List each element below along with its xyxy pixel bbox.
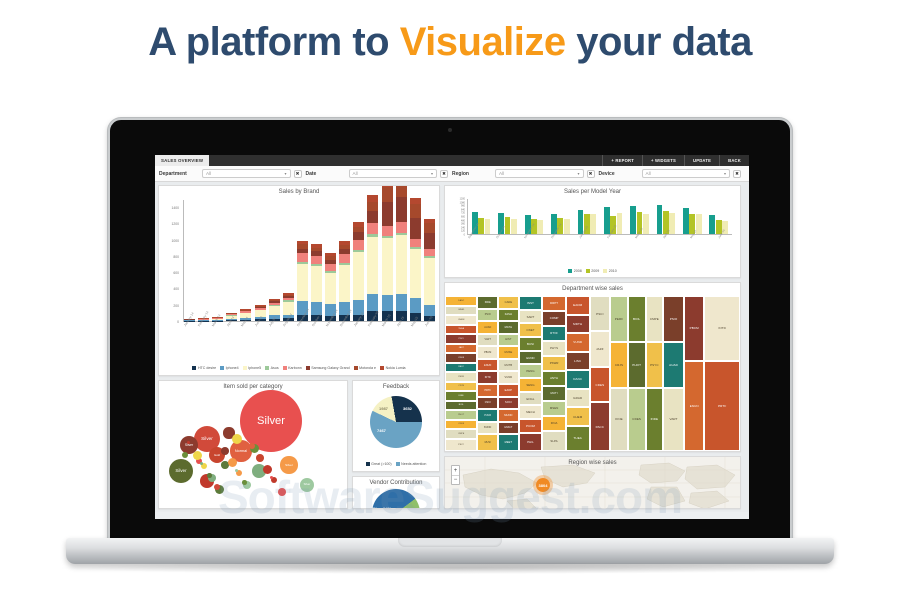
treemap-cell[interactable]: MUSE — [498, 346, 519, 359]
treemap-cell[interactable]: AUAD — [663, 342, 684, 388]
legend-item: Motorola e — [354, 366, 376, 370]
legend-label: Needs attention — [401, 462, 426, 466]
pie-slice-label: 1987 — [379, 406, 388, 411]
update-button[interactable]: UPDATE — [684, 155, 719, 166]
treemap-cell[interactable]: PERF — [610, 296, 628, 342]
bubble[interactable] — [182, 452, 188, 458]
treemap-cell[interactable]: MUND — [498, 409, 519, 422]
dashboard-screen: SALES OVERVIEW + REPORT + WIDGETS UPDATE… — [155, 155, 749, 519]
y-tick-label: 600 — [461, 216, 465, 219]
bar — [485, 219, 491, 234]
legend-item: Nokia Lumia — [380, 366, 405, 370]
treemap-cell[interactable]: PHYS — [542, 341, 566, 356]
filter-region: Region All ▾ ✖ — [452, 169, 599, 178]
pie-slice-label: 6.1% — [383, 507, 391, 508]
legend-swatch — [220, 366, 224, 370]
x-tick-label: November-14 — [325, 325, 329, 328]
pie-area: 3652 7467 1987 — [353, 394, 439, 452]
treemap-cell[interactable]: CSCI — [477, 397, 498, 410]
treemap-cell[interactable]: FINA — [542, 416, 566, 431]
x-tick-wrap: February-14 — [197, 324, 208, 358]
treemap-cell[interactable]: CRJS — [445, 382, 477, 392]
treemap-cell[interactable]: EADP — [498, 384, 519, 397]
bar-segment — [424, 249, 435, 256]
x-tick-label: April-15 — [396, 325, 400, 328]
bar-segment — [297, 253, 308, 262]
treemap-cell[interactable]: PSIO — [477, 309, 498, 322]
pie-slice-label: 4.3% — [369, 507, 377, 508]
treemap-cell[interactable]: PBCM — [477, 346, 498, 359]
widget-title: Region wise sales — [445, 457, 740, 467]
treemap-column: CADEFASHMATHHISTMUSEMUTBVUNDEADPSOCIMUND… — [498, 296, 519, 451]
legend-item: Iphone5 — [243, 366, 262, 370]
filter-device-select[interactable]: All ▾ — [642, 169, 731, 178]
bar — [537, 220, 543, 234]
widget-vendor-contribution[interactable]: Vendor Contribution 4.3% 6.1% 48.9% — [352, 476, 440, 509]
legend-swatch — [265, 366, 269, 370]
treemap-column: CMPEPSYCINDE — [646, 296, 664, 451]
x-tick-label: June-15 — [424, 325, 428, 328]
treemap-cell[interactable]: PHOT — [628, 342, 646, 388]
treemap-cell[interactable]: EUND — [519, 351, 543, 365]
bubble[interactable] — [228, 458, 237, 467]
treemap-cell[interactable]: BIOL — [445, 401, 477, 411]
widget-feedback[interactable]: Feedback 3652 7467 1987 Great (>100)Need… — [352, 380, 440, 472]
treemap-cell[interactable]: PJUR — [477, 409, 498, 422]
y-tick-label: 400 — [173, 287, 179, 291]
treemap-cell[interactable]: PHIL — [519, 433, 543, 451]
bubble[interactable] — [278, 488, 286, 496]
tab-sales-overview[interactable]: SALES OVERVIEW — [155, 155, 209, 166]
bubble[interactable] — [232, 434, 242, 444]
treemap-cell[interactable]: THEA — [566, 426, 590, 451]
bubble[interactable] — [270, 476, 273, 479]
x-tick-label: April-15 — [662, 236, 666, 239]
treemap-cell[interactable]: PSCI — [445, 334, 477, 344]
treemap-cell[interactable]: PERF — [445, 372, 477, 382]
bar — [505, 217, 511, 235]
y-tick-label: 200 — [173, 304, 179, 308]
treemap-cell[interactable]: MDTH — [566, 315, 590, 334]
legend-item: Great (>100) — [366, 462, 392, 466]
treemap-cell[interactable]: SENG — [519, 378, 543, 392]
laptop-lid: SALES OVERVIEW + REPORT + WIDGETS UPDATE… — [108, 118, 792, 542]
treemap-cell[interactable]: HIST — [498, 334, 519, 347]
treemap-cell[interactable]: RTVF — [542, 326, 566, 341]
legend-item: Asus — [265, 366, 279, 370]
y-tick-label: 360 — [461, 223, 465, 226]
legend-swatch — [243, 366, 247, 370]
y-tick-label: 960 — [461, 205, 465, 208]
treemap-column: DRPTCOMPRTVFPHYSPSWRANTHMUTIMSENFINASLPA — [542, 296, 566, 451]
x-tick-wrap: September-14 — [467, 236, 486, 270]
x-axis-labels: September-14October-14November-14Decembe… — [467, 236, 736, 270]
treemap-cell[interactable]: PSYC — [445, 439, 477, 452]
x-tick-wrap: January-14 — [183, 324, 194, 358]
treemap-cell[interactable]: GRAD — [445, 306, 477, 316]
chevron-down-icon: ▾ — [431, 171, 433, 176]
bar — [478, 218, 484, 234]
treemap-cell[interactable]: PSWR — [542, 356, 566, 371]
filter-region-value: All — [499, 171, 504, 176]
pie-chart — [370, 396, 422, 448]
treemap-cell[interactable]: LISC — [566, 352, 590, 371]
bubble[interactable]: Silver — [300, 478, 315, 493]
treemap-cell[interactable]: JAZZ — [590, 331, 611, 366]
widget-item-sold-per-category[interactable]: Item sold per category SilverSilverSilve… — [158, 380, 348, 509]
x-tick-wrap: March-15 — [634, 236, 653, 270]
filter-date-clear[interactable]: ✖ — [440, 170, 448, 178]
legend-item: Iphone4 — [220, 366, 239, 370]
page-title: A platform to Visualize your data — [0, 20, 900, 65]
dashboard-toolbar: SALES OVERVIEW + REPORT + WIDGETS UPDATE… — [155, 155, 749, 166]
legend-item: Karbonn — [283, 366, 302, 370]
widget-sales-per-model-year[interactable]: Sales per Model Year 0120240360480600720… — [444, 185, 741, 278]
bar-segment — [382, 202, 393, 226]
legend-label: Nokia Lumia — [386, 366, 406, 370]
laptop-base — [66, 538, 834, 564]
widget-department-wise-sales[interactable]: Department wise sales DANCGRADCHEMTHEAPS… — [444, 282, 741, 452]
treemap-cell[interactable]: ONET — [519, 323, 543, 337]
filter-region-clear[interactable]: ✖ — [587, 170, 595, 178]
laptop-shadow — [62, 562, 838, 574]
x-tick-wrap: April-15 — [396, 324, 407, 358]
bar-segment — [396, 294, 407, 311]
x-tick-label: January-15 — [578, 236, 582, 239]
add-report-button[interactable]: + REPORT — [602, 155, 642, 166]
stacked-bar[interactable] — [353, 222, 364, 321]
stacked-bar[interactable] — [382, 185, 393, 321]
treemap-cell[interactable]: CDES — [445, 353, 477, 363]
x-tick-wrap: December-14 — [339, 324, 350, 358]
bubble-chart: SilverSilverSilverNormalSilverSilverGold… — [159, 393, 347, 508]
x-tick-wrap: June-15 — [424, 324, 435, 358]
treemap-cell[interactable]: KINE — [610, 388, 628, 451]
treemap-cell[interactable]: HMGT — [498, 422, 519, 435]
bar — [564, 219, 570, 234]
treemap-cell[interactable]: SLPA — [542, 431, 566, 451]
bar-group[interactable] — [683, 199, 701, 234]
bubble[interactable] — [256, 454, 264, 462]
chevron-down-icon: ▾ — [284, 171, 286, 176]
x-tick-wrap: December-14 — [550, 236, 569, 270]
treemap-cell[interactable]: THEA — [445, 325, 477, 335]
map-zoom-out-button[interactable]: − — [452, 475, 459, 484]
treemap-cell[interactable]: INTD — [477, 371, 498, 384]
treemap-cell[interactable]: SART — [519, 310, 543, 324]
treemap-cell[interactable]: MUTI — [542, 386, 566, 401]
bubble[interactable] — [235, 469, 238, 472]
bar — [630, 206, 636, 234]
treemap-cell[interactable]: INTD — [704, 296, 739, 361]
stacked-bar[interactable] — [311, 244, 322, 321]
treemap-cell[interactable]: COMP — [542, 311, 566, 326]
treemap-cell[interactable]: VART — [663, 388, 684, 451]
y-tick-label: 480 — [461, 219, 465, 222]
chevron-down-icon: ▾ — [724, 171, 726, 176]
chart-legend: Great (>100)Needs attention — [353, 460, 439, 468]
bar-segment — [410, 204, 421, 218]
bar-segment — [410, 239, 421, 248]
x-tick-label: April-14 — [226, 325, 230, 328]
x-tick-wrap: March-14 — [211, 324, 222, 358]
treemap-cell[interactable]: SOCI — [498, 397, 519, 410]
bubble[interactable] — [242, 480, 247, 485]
title-part-1: A platform to — [148, 20, 400, 64]
widget-region-wise-sales[interactable]: Region wise sales — [444, 456, 741, 509]
treemap-column: DANCGRADCHEMTHEAPSCIJAZZCDESPACCPERFCRJS… — [445, 296, 477, 451]
filter-department-label: Department — [159, 171, 199, 177]
x-tick-label: June-14 — [254, 325, 258, 328]
filter-device-clear[interactable]: ✖ — [733, 170, 741, 178]
bar-segment — [325, 273, 336, 304]
treemap-cell[interactable]: GRAD — [566, 389, 590, 408]
bar-segment — [353, 240, 364, 250]
legend-swatch — [306, 366, 310, 370]
x-tick-wrap: June-15 — [717, 236, 736, 270]
legend-label: Samsung Galaxy Grand — [311, 366, 349, 370]
x-tick-label: September-14 — [296, 325, 300, 328]
treemap-cell[interactable]: PACC — [445, 363, 477, 373]
x-tick-wrap: May-14 — [240, 324, 251, 358]
y-tick-label: 1200 — [171, 222, 179, 226]
y-tick-label: 600 — [173, 271, 179, 275]
treemap-cell[interactable]: AUAD — [477, 321, 498, 334]
filter-department-clear[interactable]: ✖ — [294, 170, 302, 178]
x-tick-label: March-15 — [381, 325, 385, 328]
bar-segment — [367, 202, 378, 212]
treemap-cell[interactable]: MECH — [519, 405, 543, 419]
treemap-cell[interactable]: PSIO — [663, 296, 684, 342]
bar-segment — [424, 258, 435, 305]
y-tick-label: 1080 — [460, 201, 465, 204]
treemap-cell[interactable]: BUND — [477, 422, 498, 435]
treemap-cell[interactable]: ANTH — [542, 371, 566, 386]
treemap-column: INSTSARTONETBUSIEUNDPENGSENGENGLMECHPCOM… — [519, 296, 543, 451]
y-tick-label: 120 — [461, 230, 465, 233]
treemap-cell[interactable]: MUTB — [498, 359, 519, 372]
map-cluster-marker[interactable]: 3804 — [533, 475, 553, 495]
bar — [657, 205, 663, 234]
bar-segment — [353, 252, 364, 301]
x-tick-wrap: February-15 — [367, 324, 378, 358]
treemap-column: PSCIJAZZCDESPACC — [590, 296, 611, 451]
treemap-cell[interactable]: INST — [519, 296, 543, 310]
bar-segment — [424, 233, 435, 248]
treemap-cell[interactable]: CRJS — [610, 342, 628, 388]
treemap-cell[interactable]: CADE — [498, 296, 519, 309]
pie-slice-label: 7467 — [377, 428, 386, 433]
treemap-cell[interactable]: PENG — [519, 364, 543, 378]
treemap-cell[interactable]: PRTF — [704, 361, 739, 451]
treemap-column: BIOLPHOTCDES — [628, 296, 646, 451]
legend-label: Iphone4 — [226, 366, 239, 370]
filter-date-label: Date — [306, 171, 346, 177]
bar-segment — [410, 298, 421, 313]
y-tick-label: 0 — [464, 234, 465, 237]
legend-item: 2009 — [586, 269, 600, 273]
chart-legend: HTC desireIphone4Iphone5AsusKarbonnSamsu… — [159, 364, 439, 372]
bar-segment — [396, 185, 407, 197]
map-zoom-controls[interactable]: + − — [451, 465, 460, 485]
x-tick-wrap: March-15 — [381, 324, 392, 358]
legend-swatch — [192, 366, 196, 370]
treemap-cell[interactable]: VUND — [498, 371, 519, 384]
y-tick-label: 1400 — [171, 206, 179, 210]
bubble[interactable] — [263, 465, 272, 474]
bubble[interactable]: Silver — [280, 456, 297, 473]
add-widgets-button[interactable]: + WIDGETS — [642, 155, 684, 166]
legend-label: Motorola e — [359, 366, 376, 370]
bar-segment — [396, 222, 407, 233]
filter-bar: Department All ▾ ✖ Date All ▾ ✖ — [155, 166, 749, 182]
treemap-cell[interactable]: INDE — [477, 296, 498, 309]
treemap-cell[interactable]: DANC — [566, 370, 590, 389]
bubble[interactable] — [221, 447, 229, 455]
x-tick-label: September-14 — [467, 236, 471, 239]
treemap-cell[interactable]: PCOM — [519, 419, 543, 433]
x-tick-wrap: January-15 — [353, 324, 364, 358]
legend-label: 2008 — [574, 269, 582, 273]
treemap-cell[interactable]: PACC — [590, 402, 611, 451]
treemap-column: INTDPRTF — [704, 296, 739, 451]
treemap-cell[interactable]: ENUN — [684, 361, 705, 451]
legend-swatch — [603, 269, 607, 273]
stacked-bar[interactable] — [424, 219, 435, 321]
treemap-cell[interactable]: MEET — [498, 434, 519, 451]
treemap-cell[interactable]: PRTF — [477, 384, 498, 397]
x-tick-wrap: August-14 — [282, 324, 293, 358]
laptop-mockup: SALES OVERVIEW + REPORT + WIDGETS UPDATE… — [108, 118, 792, 588]
x-tick-label: July-14 — [268, 325, 272, 328]
bar-segment — [382, 238, 393, 295]
legend-swatch — [380, 366, 384, 370]
title-part-2: your data — [566, 20, 752, 64]
treemap-cell[interactable]: KINE — [445, 391, 477, 401]
bar-segment — [353, 232, 364, 239]
bubble[interactable] — [207, 473, 212, 478]
map-zoom-in-button[interactable]: + — [452, 466, 459, 475]
treemap-cell[interactable]: VUND — [566, 333, 590, 352]
bubble[interactable] — [200, 462, 203, 465]
pie-slice-label: 3652 — [403, 406, 412, 411]
treemap-cell[interactable]: CMPE — [445, 429, 477, 439]
treemap-cell[interactable]: FASH — [498, 309, 519, 322]
bar — [683, 208, 689, 234]
treemap-cell[interactable]: CHEM — [445, 315, 477, 325]
x-tick-label: May-15 — [689, 236, 693, 239]
treemap-cell[interactable]: CDES — [445, 420, 477, 430]
filter-date-select[interactable]: All ▾ — [349, 169, 438, 178]
treemap-cell[interactable]: MUSI — [477, 434, 498, 451]
y-axis: 0200400600800100012001400 — [159, 200, 181, 322]
y-tick-label: 240 — [461, 226, 465, 229]
y-tick-label: 0 — [177, 320, 179, 324]
y-tick-label: 720 — [461, 212, 465, 215]
legend-item: HTC desire — [192, 366, 216, 370]
treemap-cell[interactable]: ENGL — [519, 392, 543, 406]
treemap-cell[interactable]: CDES — [628, 388, 646, 451]
x-tick-label: February-15 — [367, 325, 371, 328]
bar-segment — [325, 264, 336, 271]
x-tick-wrap: July-14 — [268, 324, 279, 358]
treemap-cell[interactable]: MSEN — [542, 401, 566, 416]
treemap-cell[interactable]: CDES — [590, 367, 611, 402]
filter-region-select[interactable]: All ▾ — [495, 169, 584, 178]
bar-group[interactable] — [709, 199, 727, 234]
x-tick-wrap: May-15 — [689, 236, 708, 270]
widget-sales-by-brand[interactable]: Sales by Brand 0200400600800100012001400… — [158, 185, 440, 376]
x-tick-label: October-14 — [311, 325, 315, 328]
bar-segment — [382, 295, 393, 311]
treemap-cell[interactable]: EADM — [566, 296, 590, 315]
toolbar-spacer — [209, 155, 602, 166]
chart-plot-area: 0200400600800100012001400 — [159, 200, 439, 322]
x-tick-label: October-14 — [495, 236, 499, 239]
stacked-bar[interactable] — [367, 195, 378, 321]
treemap-cell[interactable]: ENUN — [477, 359, 498, 372]
bubble[interactable]: Silver — [169, 459, 194, 484]
y-tick-label: 1000 — [171, 239, 179, 243]
treemap-cell[interactable]: MATH — [498, 321, 519, 334]
bar-segment — [396, 235, 407, 293]
bar-segment — [311, 256, 322, 264]
x-tick-label: May-15 — [410, 325, 414, 328]
x-tick-wrap: November-14 — [523, 236, 542, 270]
back-button[interactable]: BACK — [719, 155, 749, 166]
legend-label: 2009 — [591, 269, 599, 273]
treemap-cell[interactable]: CHEM — [566, 407, 590, 426]
legend-swatch — [586, 269, 590, 273]
treemap-cell[interactable]: PSYC — [646, 342, 664, 388]
bar-segment — [367, 237, 378, 295]
bar-segment — [396, 197, 407, 221]
x-tick-wrap: October-14 — [495, 236, 514, 270]
treemap-cell[interactable]: PHOT — [445, 410, 477, 420]
treemap-cell[interactable]: BIOL — [628, 296, 646, 342]
bubble[interactable] — [187, 441, 190, 444]
treemap-cell[interactable]: JAZZ — [445, 344, 477, 354]
bar — [617, 213, 623, 234]
filter-department-value: All — [206, 171, 211, 176]
bar-segment — [382, 187, 393, 202]
y-axis: 012024036048060072084096010801200 — [445, 199, 467, 235]
treemap-cell[interactable]: CMPE — [646, 296, 664, 342]
treemap-cell[interactable]: DRPT — [542, 296, 566, 311]
stacked-bar[interactable] — [396, 185, 407, 321]
treemap-cell[interactable]: VART — [477, 334, 498, 347]
y-tick-label: 840 — [461, 208, 465, 211]
bar-segment — [367, 211, 378, 222]
y-tick-label: 800 — [173, 255, 179, 259]
chevron-down-icon: ▾ — [577, 171, 579, 176]
x-axis-labels: January-14February-14March-14April-14May… — [183, 324, 435, 358]
treemap-cell[interactable]: INDE — [646, 388, 664, 451]
legend-swatch — [354, 366, 358, 370]
x-tick-label: May-14 — [240, 325, 244, 328]
bar — [590, 214, 596, 234]
treemap-cell[interactable]: DANC — [445, 296, 477, 306]
treemap-cell[interactable]: BUSI — [519, 337, 543, 351]
x-tick-label: March-15 — [634, 236, 638, 239]
bar-segment — [410, 249, 421, 298]
treemap-cell[interactable]: PBCM — [684, 296, 705, 361]
treemap-cell[interactable]: PSCI — [590, 296, 611, 331]
filter-device-value: All — [646, 171, 651, 176]
filter-department-select[interactable]: All ▾ — [202, 169, 291, 178]
stacked-bar[interactable] — [410, 198, 421, 321]
legend-label: Great (>100) — [371, 462, 391, 466]
